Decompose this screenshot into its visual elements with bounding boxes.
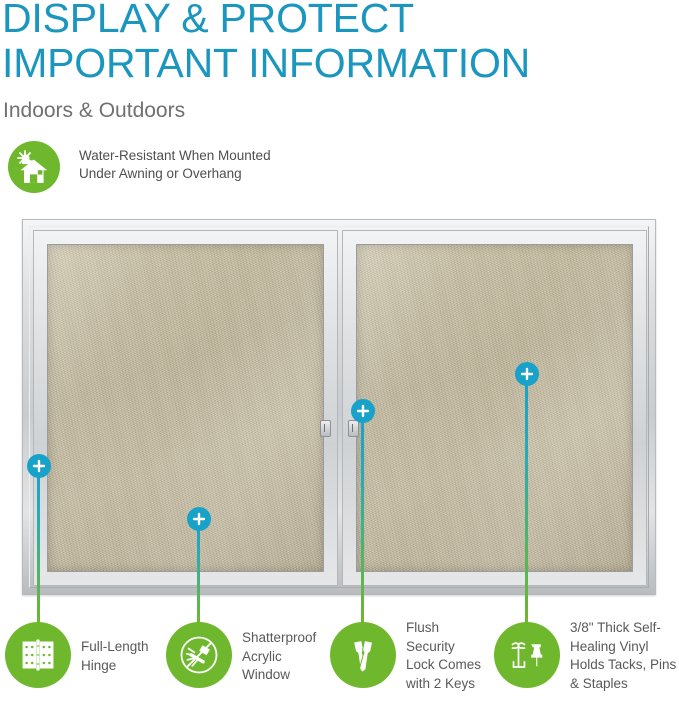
leader-line-lock	[361, 411, 364, 624]
leader-line-vinyl	[525, 374, 528, 624]
marker-lock[interactable]	[351, 399, 375, 423]
two-keys-icon	[330, 622, 396, 688]
marker-vinyl[interactable]	[515, 362, 539, 386]
board-surface-left	[47, 244, 324, 572]
water-resistant-badge: Water-Resistant When Mounted Under Awnin…	[8, 141, 428, 199]
callout-label-hinge: Full-Length Hinge	[81, 638, 149, 675]
marker-hinge[interactable]	[27, 454, 51, 478]
no-hammer-shatterproof-icon	[166, 622, 232, 688]
callout-circle-vinyl	[494, 622, 560, 688]
enclosed-bulletin-board	[22, 219, 656, 595]
callout-circle-acrylic	[166, 622, 232, 688]
board-surface-right	[356, 244, 633, 572]
house-with-sun-and-rain-icon	[8, 141, 60, 193]
callout-circle-lock	[330, 622, 396, 688]
board-door-left[interactable]	[33, 230, 338, 586]
callout-vinyl: 3/8" Thick Self- Healing Vinyl Holds Tac…	[494, 622, 679, 702]
callout-label-acrylic: Shatterproof Acrylic Window	[242, 629, 316, 685]
pin-and-staple-icon	[494, 622, 560, 688]
plus-icon	[192, 512, 206, 526]
plus-icon	[520, 367, 534, 381]
marker-acrylic[interactable]	[187, 507, 211, 531]
hinge-icon	[5, 622, 71, 688]
callout-lock: Flush Security Lock Comes with 2 Keys	[330, 622, 500, 702]
plus-icon	[32, 459, 46, 473]
infographic-page: DISPLAY & PROTECT IMPORTANT INFORMATION …	[0, 0, 679, 698]
leader-line-hinge	[37, 466, 40, 624]
plus-icon	[356, 404, 370, 418]
badge-circle	[8, 141, 60, 193]
page-subtitle: Indoors & Outdoors	[3, 99, 185, 123]
leader-line-acrylic	[197, 519, 200, 624]
callout-circle-hinge	[5, 622, 71, 688]
badge-label: Water-Resistant When Mounted Under Awnin…	[79, 147, 271, 183]
page-title: DISPLAY & PROTECT IMPORTANT INFORMATION	[2, 0, 662, 86]
board-door-right[interactable]	[342, 230, 647, 586]
lock-cylinder-right[interactable]	[348, 420, 359, 437]
lock-cylinder-left[interactable]	[320, 420, 331, 437]
callout-acrylic: Shatterproof Acrylic Window	[166, 622, 336, 702]
callout-hinge: Full-Length Hinge	[5, 622, 165, 702]
callout-label-lock: Flush Security Lock Comes with 2 Keys	[406, 619, 481, 693]
callout-label-vinyl: 3/8" Thick Self- Healing Vinyl Holds Tac…	[570, 619, 676, 693]
